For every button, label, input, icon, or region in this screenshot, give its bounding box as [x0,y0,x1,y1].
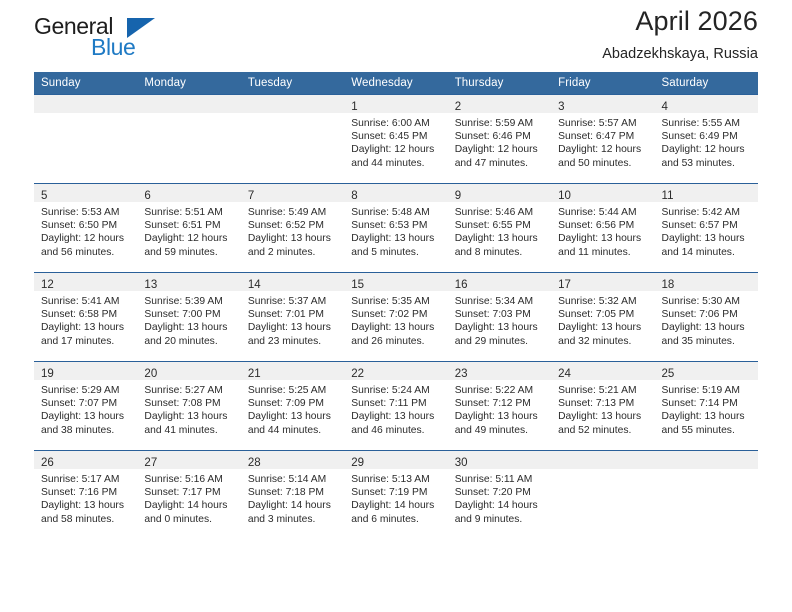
sunrise-text: Sunrise: 5:48 AM [351,206,441,219]
sunset-text: Sunset: 6:46 PM [455,130,545,143]
sunrise-text: Sunrise: 5:44 AM [558,206,648,219]
sunrise-text: Sunrise: 5:22 AM [455,384,545,397]
daylight-text-line2: and 47 minutes. [455,157,545,170]
calendar-day-cell[interactable]: 16Sunrise: 5:34 AMSunset: 7:03 PMDayligh… [448,273,551,362]
daylight-text-line2: and 26 minutes. [351,335,441,348]
daylight-text-line2: and 6 minutes. [351,513,441,526]
daylight-text-line2: and 41 minutes. [144,424,234,437]
day-detail: Sunrise: 5:22 AMSunset: 7:12 PMDaylight:… [448,380,551,437]
daylight-text-line1: Daylight: 12 hours [144,232,234,245]
calendar-day-cell-empty [34,95,137,184]
daylight-text-line1: Daylight: 13 hours [351,410,441,423]
sunrise-text: Sunrise: 5:30 AM [662,295,752,308]
day-number-band [241,95,344,113]
day-detail: Sunrise: 5:37 AMSunset: 7:01 PMDaylight:… [241,291,344,348]
day-number-band: 28 [241,451,344,469]
day-number-band: 29 [344,451,447,469]
sunset-text: Sunset: 7:08 PM [144,397,234,410]
day-detail: Sunrise: 5:13 AMSunset: 7:19 PMDaylight:… [344,469,447,526]
daylight-text-line1: Daylight: 13 hours [248,232,338,245]
daylight-text-line1: Daylight: 13 hours [455,410,545,423]
day-number: 3 [558,101,564,113]
sunset-text: Sunset: 6:47 PM [558,130,648,143]
day-detail [551,469,654,473]
calendar-day-cell[interactable]: 28Sunrise: 5:14 AMSunset: 7:18 PMDayligh… [241,451,344,540]
sunset-text: Sunset: 6:56 PM [558,219,648,232]
sunset-text: Sunset: 7:06 PM [662,308,752,321]
sunrise-text: Sunrise: 5:46 AM [455,206,545,219]
sunrise-text: Sunrise: 5:13 AM [351,473,441,486]
calendar-week-row: 19Sunrise: 5:29 AMSunset: 7:07 PMDayligh… [34,362,758,451]
day-number: 22 [351,368,364,380]
sunset-text: Sunset: 7:07 PM [41,397,131,410]
calendar-day-cell[interactable]: 23Sunrise: 5:22 AMSunset: 7:12 PMDayligh… [448,362,551,451]
day-number: 4 [662,101,668,113]
sunset-text: Sunset: 6:45 PM [351,130,441,143]
daylight-text-line1: Daylight: 13 hours [455,321,545,334]
day-number-band [137,95,240,113]
weekday-header-tuesday: Tuesday [241,72,344,95]
sunrise-text: Sunrise: 5:25 AM [248,384,338,397]
day-number-band: 23 [448,362,551,380]
sunset-text: Sunset: 6:49 PM [662,130,752,143]
daylight-text-line2: and 38 minutes. [41,424,131,437]
sunrise-text: Sunrise: 6:00 AM [351,117,441,130]
daylight-text-line2: and 56 minutes. [41,246,131,259]
day-number-band: 18 [655,273,758,291]
calendar-week-row: 5Sunrise: 5:53 AMSunset: 6:50 PMDaylight… [34,184,758,273]
daylight-text-line2: and 52 minutes. [558,424,648,437]
day-number: 25 [662,368,675,380]
calendar-day-cell-empty [137,95,240,184]
day-detail [137,113,240,117]
day-number: 28 [248,457,261,469]
day-number-band: 25 [655,362,758,380]
sunrise-text: Sunrise: 5:16 AM [144,473,234,486]
day-number: 19 [41,368,54,380]
calendar-day-cell[interactable]: 29Sunrise: 5:13 AMSunset: 7:19 PMDayligh… [344,451,447,540]
daylight-text-line2: and 20 minutes. [144,335,234,348]
daylight-text-line2: and 11 minutes. [558,246,648,259]
generalblue-logo[interactable]: General Blue [34,13,224,65]
sunrise-text: Sunrise: 5:27 AM [144,384,234,397]
calendar-week-row: 12Sunrise: 5:41 AMSunset: 6:58 PMDayligh… [34,273,758,362]
calendar-day-cell[interactable]: 18Sunrise: 5:30 AMSunset: 7:06 PMDayligh… [655,273,758,362]
sunset-text: Sunset: 6:52 PM [248,219,338,232]
day-number-band: 2 [448,95,551,113]
calendar-day-cell[interactable]: 3Sunrise: 5:57 AMSunset: 6:47 PMDaylight… [551,95,654,184]
sunset-text: Sunset: 7:18 PM [248,486,338,499]
day-number: 24 [558,368,571,380]
sunset-text: Sunset: 7:16 PM [41,486,131,499]
calendar-day-cell[interactable]: 20Sunrise: 5:27 AMSunset: 7:08 PMDayligh… [137,362,240,451]
calendar-day-cell[interactable]: 10Sunrise: 5:44 AMSunset: 6:56 PMDayligh… [551,184,654,273]
calendar-day-cell-empty [241,95,344,184]
day-detail: Sunrise: 5:14 AMSunset: 7:18 PMDaylight:… [241,469,344,526]
daylight-text-line2: and 9 minutes. [455,513,545,526]
day-number-band: 24 [551,362,654,380]
day-detail [34,113,137,117]
day-number: 26 [41,457,54,469]
calendar-day-cell[interactable]: 19Sunrise: 5:29 AMSunset: 7:07 PMDayligh… [34,362,137,451]
calendar-day-cell[interactable]: 30Sunrise: 5:11 AMSunset: 7:20 PMDayligh… [448,451,551,540]
calendar-day-cell-empty [655,451,758,540]
weekday-header-wednesday: Wednesday [344,72,447,95]
day-detail: Sunrise: 5:41 AMSunset: 6:58 PMDaylight:… [34,291,137,348]
day-number-band: 10 [551,184,654,202]
calendar-day-cell[interactable]: 21Sunrise: 5:25 AMSunset: 7:09 PMDayligh… [241,362,344,451]
daylight-text-line2: and 50 minutes. [558,157,648,170]
sunrise-text: Sunrise: 5:21 AM [558,384,648,397]
daylight-text-line2: and 5 minutes. [351,246,441,259]
day-number: 21 [248,368,261,380]
day-number: 5 [41,190,47,202]
sunrise-text: Sunrise: 5:19 AM [662,384,752,397]
sunset-text: Sunset: 6:53 PM [351,219,441,232]
day-number: 2 [455,101,461,113]
daylight-text-line1: Daylight: 13 hours [41,321,131,334]
weekday-header-saturday: Saturday [655,72,758,95]
daylight-text-line2: and 55 minutes. [662,424,752,437]
day-detail: Sunrise: 5:24 AMSunset: 7:11 PMDaylight:… [344,380,447,437]
day-detail [241,113,344,117]
page-header: General Blue April 2026 Abadzekhskaya, R… [34,0,758,72]
daylight-text-line1: Daylight: 13 hours [558,232,648,245]
calendar-page: General Blue April 2026 Abadzekhskaya, R… [0,0,792,612]
logo-word-blue: Blue [91,34,135,61]
daylight-text-line1: Daylight: 14 hours [351,499,441,512]
daylight-text-line1: Daylight: 13 hours [41,499,131,512]
day-detail: Sunrise: 5:34 AMSunset: 7:03 PMDaylight:… [448,291,551,348]
daylight-text-line1: Daylight: 13 hours [351,232,441,245]
daylight-text-line1: Daylight: 12 hours [351,143,441,156]
daylight-text-line1: Daylight: 12 hours [558,143,648,156]
daylight-text-line1: Daylight: 13 hours [351,321,441,334]
sunset-text: Sunset: 6:51 PM [144,219,234,232]
calendar-day-cell[interactable]: 7Sunrise: 5:49 AMSunset: 6:52 PMDaylight… [241,184,344,273]
day-number-band: 16 [448,273,551,291]
day-number-band: 17 [551,273,654,291]
day-number-band: 26 [34,451,137,469]
calendar-header-row: Sunday Monday Tuesday Wednesday Thursday… [34,72,758,95]
sunrise-text: Sunrise: 5:51 AM [144,206,234,219]
daylight-text-line1: Daylight: 14 hours [248,499,338,512]
sunset-text: Sunset: 6:50 PM [41,219,131,232]
day-number: 20 [144,368,157,380]
daylight-text-line1: Daylight: 13 hours [662,232,752,245]
sunset-text: Sunset: 7:12 PM [455,397,545,410]
calendar-body: 1Sunrise: 6:00 AMSunset: 6:45 PMDaylight… [34,95,758,540]
sunset-text: Sunset: 7:05 PM [558,308,648,321]
day-detail: Sunrise: 5:49 AMSunset: 6:52 PMDaylight:… [241,202,344,259]
sunrise-text: Sunrise: 5:17 AM [41,473,131,486]
sunrise-text: Sunrise: 5:37 AM [248,295,338,308]
weekday-header-sunday: Sunday [34,72,137,95]
daylight-text-line1: Daylight: 13 hours [144,321,234,334]
day-number-band: 21 [241,362,344,380]
day-number: 29 [351,457,364,469]
day-number-band: 1 [344,95,447,113]
calendar-grid: Sunday Monday Tuesday Wednesday Thursday… [34,72,758,540]
day-number: 8 [351,190,357,202]
day-number: 15 [351,279,364,291]
sunset-text: Sunset: 7:17 PM [144,486,234,499]
daylight-text-line2: and 14 minutes. [662,246,752,259]
daylight-text-line1: Daylight: 12 hours [662,143,752,156]
daylight-text-line1: Daylight: 13 hours [41,410,131,423]
calendar-day-cell[interactable]: 13Sunrise: 5:39 AMSunset: 7:00 PMDayligh… [137,273,240,362]
calendar-day-cell[interactable]: 1Sunrise: 6:00 AMSunset: 6:45 PMDaylight… [344,95,447,184]
sunset-text: Sunset: 7:11 PM [351,397,441,410]
day-number: 6 [144,190,150,202]
calendar-week-row: 26Sunrise: 5:17 AMSunset: 7:16 PMDayligh… [34,451,758,540]
day-number-band: 19 [34,362,137,380]
day-number-band: 13 [137,273,240,291]
calendar-day-cell[interactable]: 24Sunrise: 5:21 AMSunset: 7:13 PMDayligh… [551,362,654,451]
daylight-text-line1: Daylight: 13 hours [662,321,752,334]
daylight-text-line2: and 29 minutes. [455,335,545,348]
sunset-text: Sunset: 7:02 PM [351,308,441,321]
daylight-text-line2: and 59 minutes. [144,246,234,259]
day-detail: Sunrise: 6:00 AMSunset: 6:45 PMDaylight:… [344,113,447,170]
day-number: 7 [248,190,254,202]
daylight-text-line2: and 46 minutes. [351,424,441,437]
day-number: 10 [558,190,571,202]
sunrise-text: Sunrise: 5:41 AM [41,295,131,308]
day-detail: Sunrise: 5:21 AMSunset: 7:13 PMDaylight:… [551,380,654,437]
calendar-week-row: 1Sunrise: 6:00 AMSunset: 6:45 PMDaylight… [34,95,758,184]
sunset-text: Sunset: 7:00 PM [144,308,234,321]
calendar-day-cell[interactable]: 27Sunrise: 5:16 AMSunset: 7:17 PMDayligh… [137,451,240,540]
sunset-text: Sunset: 7:14 PM [662,397,752,410]
day-number: 9 [455,190,461,202]
day-detail: Sunrise: 5:32 AMSunset: 7:05 PMDaylight:… [551,291,654,348]
daylight-text-line1: Daylight: 13 hours [455,232,545,245]
day-detail: Sunrise: 5:30 AMSunset: 7:06 PMDaylight:… [655,291,758,348]
sunrise-text: Sunrise: 5:24 AM [351,384,441,397]
calendar-day-cell[interactable]: 6Sunrise: 5:51 AMSunset: 6:51 PMDaylight… [137,184,240,273]
day-number: 12 [41,279,54,291]
day-number: 13 [144,279,157,291]
sunrise-text: Sunrise: 5:11 AM [455,473,545,486]
day-number: 23 [455,368,468,380]
calendar-day-cell-empty [551,451,654,540]
sunrise-text: Sunrise: 5:32 AM [558,295,648,308]
day-number-band: 7 [241,184,344,202]
day-detail: Sunrise: 5:57 AMSunset: 6:47 PMDaylight:… [551,113,654,170]
sunrise-text: Sunrise: 5:34 AM [455,295,545,308]
day-number-band [34,95,137,113]
day-detail: Sunrise: 5:42 AMSunset: 6:57 PMDaylight:… [655,202,758,259]
calendar-day-cell[interactable]: 12Sunrise: 5:41 AMSunset: 6:58 PMDayligh… [34,273,137,362]
sunrise-text: Sunrise: 5:35 AM [351,295,441,308]
day-detail: Sunrise: 5:51 AMSunset: 6:51 PMDaylight:… [137,202,240,259]
daylight-text-line2: and 53 minutes. [662,157,752,170]
day-number-band: 20 [137,362,240,380]
day-number-band: 6 [137,184,240,202]
day-number-band: 30 [448,451,551,469]
sunrise-text: Sunrise: 5:57 AM [558,117,648,130]
day-detail: Sunrise: 5:59 AMSunset: 6:46 PMDaylight:… [448,113,551,170]
day-detail: Sunrise: 5:46 AMSunset: 6:55 PMDaylight:… [448,202,551,259]
sunrise-text: Sunrise: 5:14 AM [248,473,338,486]
sunset-text: Sunset: 7:13 PM [558,397,648,410]
sunrise-text: Sunrise: 5:42 AM [662,206,752,219]
calendar-day-cell[interactable]: 8Sunrise: 5:48 AMSunset: 6:53 PMDaylight… [344,184,447,273]
daylight-text-line2: and 32 minutes. [558,335,648,348]
daylight-text-line1: Daylight: 13 hours [248,410,338,423]
day-number: 1 [351,101,357,113]
page-subtitle: Abadzekhskaya, Russia [602,46,758,62]
day-number-band [655,451,758,469]
title-block: April 2026 Abadzekhskaya, Russia [602,6,758,62]
daylight-text-line2: and 49 minutes. [455,424,545,437]
daylight-text-line2: and 17 minutes. [41,335,131,348]
calendar-day-cell[interactable]: 11Sunrise: 5:42 AMSunset: 6:57 PMDayligh… [655,184,758,273]
sunrise-text: Sunrise: 5:55 AM [662,117,752,130]
sunset-text: Sunset: 7:09 PM [248,397,338,410]
daylight-text-line2: and 58 minutes. [41,513,131,526]
sunset-text: Sunset: 7:03 PM [455,308,545,321]
day-number-band: 3 [551,95,654,113]
daylight-text-line1: Daylight: 14 hours [455,499,545,512]
day-number-band [551,451,654,469]
daylight-text-line2: and 23 minutes. [248,335,338,348]
day-number-band: 12 [34,273,137,291]
day-number-band: 27 [137,451,240,469]
daylight-text-line1: Daylight: 13 hours [558,410,648,423]
day-detail: Sunrise: 5:16 AMSunset: 7:17 PMDaylight:… [137,469,240,526]
day-number-band: 14 [241,273,344,291]
sunrise-text: Sunrise: 5:59 AM [455,117,545,130]
weekday-header-monday: Monday [137,72,240,95]
calendar-day-cell[interactable]: 5Sunrise: 5:53 AMSunset: 6:50 PMDaylight… [34,184,137,273]
daylight-text-line1: Daylight: 13 hours [144,410,234,423]
daylight-text-line1: Daylight: 13 hours [662,410,752,423]
sunset-text: Sunset: 6:55 PM [455,219,545,232]
page-title: April 2026 [602,6,758,37]
daylight-text-line1: Daylight: 12 hours [41,232,131,245]
weekday-header-thursday: Thursday [448,72,551,95]
day-detail: Sunrise: 5:17 AMSunset: 7:16 PMDaylight:… [34,469,137,526]
sunset-text: Sunset: 7:01 PM [248,308,338,321]
daylight-text-line1: Daylight: 13 hours [558,321,648,334]
sunset-text: Sunset: 6:57 PM [662,219,752,232]
day-number: 18 [662,279,675,291]
day-detail: Sunrise: 5:48 AMSunset: 6:53 PMDaylight:… [344,202,447,259]
day-detail: Sunrise: 5:44 AMSunset: 6:56 PMDaylight:… [551,202,654,259]
day-detail: Sunrise: 5:39 AMSunset: 7:00 PMDaylight:… [137,291,240,348]
sunrise-text: Sunrise: 5:29 AM [41,384,131,397]
daylight-text-line2: and 8 minutes. [455,246,545,259]
calendar-day-cell[interactable]: 9Sunrise: 5:46 AMSunset: 6:55 PMDaylight… [448,184,551,273]
calendar-day-cell[interactable]: 4Sunrise: 5:55 AMSunset: 6:49 PMDaylight… [655,95,758,184]
day-detail: Sunrise: 5:11 AMSunset: 7:20 PMDaylight:… [448,469,551,526]
daylight-text-line2: and 3 minutes. [248,513,338,526]
day-number-band: 9 [448,184,551,202]
daylight-text-line2: and 35 minutes. [662,335,752,348]
calendar-day-cell[interactable]: 26Sunrise: 5:17 AMSunset: 7:16 PMDayligh… [34,451,137,540]
day-detail: Sunrise: 5:27 AMSunset: 7:08 PMDaylight:… [137,380,240,437]
day-number-band: 8 [344,184,447,202]
sunset-text: Sunset: 7:20 PM [455,486,545,499]
calendar-day-cell[interactable]: 15Sunrise: 5:35 AMSunset: 7:02 PMDayligh… [344,273,447,362]
daylight-text-line1: Daylight: 14 hours [144,499,234,512]
daylight-text-line2: and 2 minutes. [248,246,338,259]
sunrise-text: Sunrise: 5:53 AM [41,206,131,219]
daylight-text-line2: and 44 minutes. [351,157,441,170]
calendar-day-cell[interactable]: 14Sunrise: 5:37 AMSunset: 7:01 PMDayligh… [241,273,344,362]
daylight-text-line1: Daylight: 13 hours [248,321,338,334]
day-detail: Sunrise: 5:25 AMSunset: 7:09 PMDaylight:… [241,380,344,437]
day-detail: Sunrise: 5:53 AMSunset: 6:50 PMDaylight:… [34,202,137,259]
daylight-text-line2: and 0 minutes. [144,513,234,526]
calendar-day-cell[interactable]: 17Sunrise: 5:32 AMSunset: 7:05 PMDayligh… [551,273,654,362]
day-detail: Sunrise: 5:19 AMSunset: 7:14 PMDaylight:… [655,380,758,437]
weekday-header-friday: Friday [551,72,654,95]
day-number-band: 11 [655,184,758,202]
day-detail: Sunrise: 5:55 AMSunset: 6:49 PMDaylight:… [655,113,758,170]
sunrise-text: Sunrise: 5:49 AM [248,206,338,219]
calendar-day-cell[interactable]: 25Sunrise: 5:19 AMSunset: 7:14 PMDayligh… [655,362,758,451]
sunset-text: Sunset: 7:19 PM [351,486,441,499]
day-detail: Sunrise: 5:29 AMSunset: 7:07 PMDaylight:… [34,380,137,437]
day-number: 27 [144,457,157,469]
day-number-band: 4 [655,95,758,113]
day-number-band: 5 [34,184,137,202]
calendar-day-cell[interactable]: 2Sunrise: 5:59 AMSunset: 6:46 PMDaylight… [448,95,551,184]
day-number: 16 [455,279,468,291]
day-detail: Sunrise: 5:35 AMSunset: 7:02 PMDaylight:… [344,291,447,348]
calendar-day-cell[interactable]: 22Sunrise: 5:24 AMSunset: 7:11 PMDayligh… [344,362,447,451]
day-number: 14 [248,279,261,291]
day-detail [655,469,758,473]
day-number: 30 [455,457,468,469]
day-number: 17 [558,279,571,291]
day-number-band: 15 [344,273,447,291]
sunset-text: Sunset: 6:58 PM [41,308,131,321]
day-number-band: 22 [344,362,447,380]
daylight-text-line2: and 44 minutes. [248,424,338,437]
sunrise-text: Sunrise: 5:39 AM [144,295,234,308]
day-number: 11 [662,190,674,202]
daylight-text-line1: Daylight: 12 hours [455,143,545,156]
